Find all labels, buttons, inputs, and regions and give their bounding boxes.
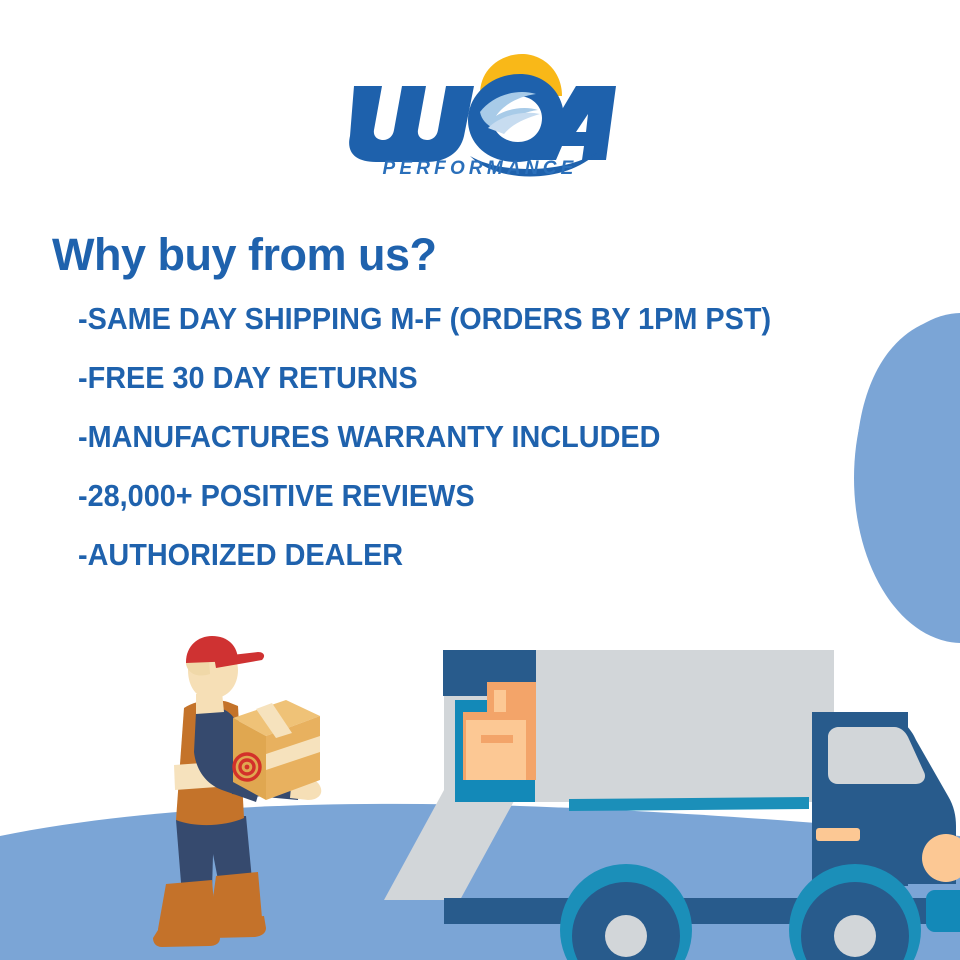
brand-logo: PERFORMANCE bbox=[0, 52, 960, 177]
copy-block: Why buy from us? -SAME DAY SHIPPING M-F … bbox=[0, 232, 960, 598]
logo-mark: PERFORMANCE bbox=[330, 52, 630, 177]
wheel-icon bbox=[560, 864, 692, 960]
truck-side-stripe bbox=[569, 797, 809, 811]
truck-cargo-side bbox=[536, 650, 834, 802]
list-item: -AUTHORIZED DEALER bbox=[78, 539, 898, 570]
truck-bumper bbox=[926, 890, 960, 932]
list-item: -28,000+ POSITIVE REVIEWS bbox=[78, 480, 898, 511]
logo-tagline: PERFORMANCE bbox=[382, 158, 577, 177]
logo-letter-w bbox=[349, 86, 474, 162]
promo-graphic: PERFORMANCE Why buy from us? -SAME DAY S… bbox=[0, 0, 960, 960]
page-title: Why buy from us? bbox=[52, 232, 960, 277]
delivery-worker bbox=[153, 636, 321, 947]
benefits-list: -SAME DAY SHIPPING M-F (ORDERS BY 1PM PS… bbox=[0, 303, 960, 570]
list-item: -MANUFACTURES WARRANTY INCLUDED bbox=[78, 421, 898, 452]
truck-door-handle bbox=[816, 828, 860, 841]
list-item: -SAME DAY SHIPPING M-F (ORDERS BY 1PM PS… bbox=[78, 303, 898, 334]
delivery-truck bbox=[384, 650, 960, 960]
loading-ramp-icon bbox=[384, 790, 520, 900]
list-item: -FREE 30 DAY RETURNS bbox=[78, 362, 898, 393]
